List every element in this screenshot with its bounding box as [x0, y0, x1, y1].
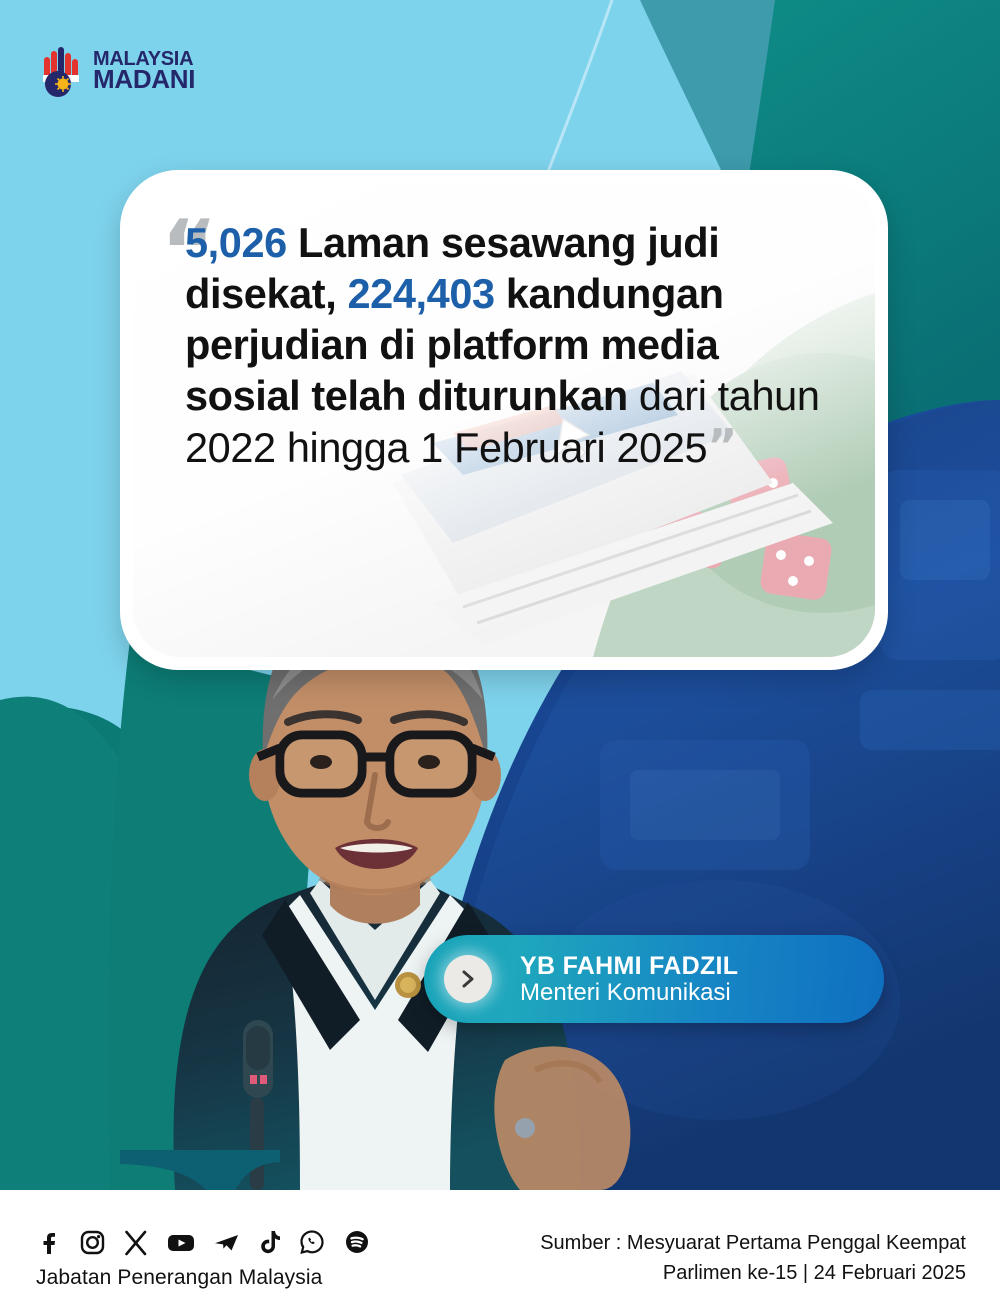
- footer: Jabatan Penerangan Malaysia Sumber : Mes…: [0, 1190, 1000, 1311]
- chevron-right-icon[interactable]: [444, 955, 492, 1003]
- quote-text: 5,026 Laman sesawang judi disekat, 224,4…: [185, 217, 825, 473]
- spotify-icon[interactable]: [343, 1228, 371, 1256]
- quote-number-2: 224,403: [347, 270, 494, 317]
- quote-close-mark: ”: [707, 419, 737, 473]
- speaker-info: YB FAHMI FADZIL Menteri Komunikasi: [520, 952, 738, 1007]
- quote-number-1: 5,026: [185, 219, 287, 266]
- quote-card: “ 5,026 Laman sesawang judi disekat, 224…: [120, 170, 888, 670]
- source-line-2: Parlimen ke-15 | 24 Februari 2025: [540, 1258, 966, 1288]
- speaker-name: YB FAHMI FADZIL: [520, 952, 738, 980]
- whatsapp-icon[interactable]: [298, 1228, 326, 1256]
- telegram-icon[interactable]: [213, 1228, 240, 1256]
- source-line-1: Sumber : Mesyuarat Pertama Penggal Keemp…: [540, 1228, 966, 1258]
- speaker-badge[interactable]: YB FAHMI FADZIL Menteri Komunikasi: [424, 935, 884, 1023]
- quote-card-inner: “ 5,026 Laman sesawang judi disekat, 224…: [133, 183, 875, 657]
- x-twitter-icon[interactable]: [123, 1228, 149, 1256]
- youtube-icon[interactable]: [166, 1228, 196, 1256]
- infographic-poster: MALAYSIA MADANI: [0, 0, 1000, 1311]
- logo-wordmark: MALAYSIA MADANI: [93, 50, 195, 92]
- speaker-role: Menteri Komunikasi: [520, 980, 738, 1007]
- malaysia-madani-logo: MALAYSIA MADANI: [38, 45, 195, 97]
- source-citation: Sumber : Mesyuarat Pertama Penggal Keemp…: [540, 1228, 966, 1288]
- logo-line2: MADANI: [93, 68, 195, 92]
- facebook-icon[interactable]: [36, 1228, 62, 1256]
- instagram-icon[interactable]: [79, 1228, 106, 1256]
- social-links: [36, 1228, 371, 1256]
- tiktok-icon[interactable]: [257, 1228, 281, 1256]
- madani-emblem-icon: [38, 45, 84, 97]
- department-name: Jabatan Penerangan Malaysia: [36, 1266, 322, 1290]
